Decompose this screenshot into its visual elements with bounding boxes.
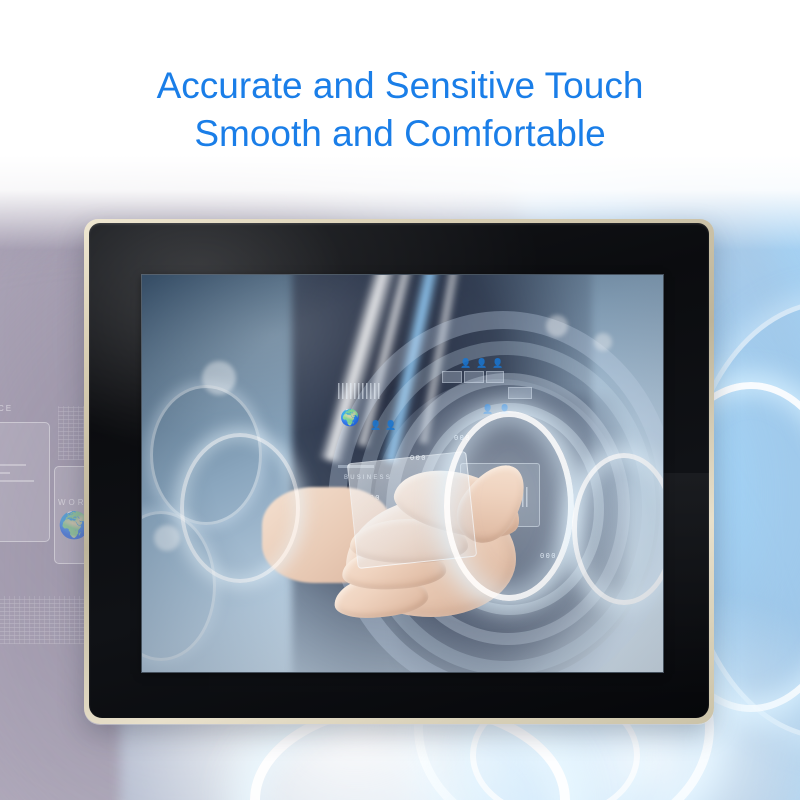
background-panel-row	[0, 480, 34, 482]
screen-vignette	[142, 275, 663, 672]
background-panel-finance	[0, 422, 50, 542]
headline-line-1: Accurate and Sensitive Touch	[0, 62, 800, 110]
monitor-bezel: 🌍 BUSINESS NETWORK SER 000 000 000 000 0…	[89, 223, 709, 718]
headline-line-2: Smooth and Comfortable	[0, 110, 800, 158]
background-panel-row	[0, 464, 26, 466]
background-panel-row	[0, 472, 10, 474]
product-image-canvas: FINANCE WORLD 🌍 Accurate and Sensitive T…	[0, 0, 800, 800]
background-data-grid	[0, 596, 84, 644]
touch-display[interactable]: 🌍 BUSINESS NETWORK SER 000 000 000 000 0…	[142, 275, 663, 672]
industrial-touch-panel-monitor[interactable]: 🌍 BUSINESS NETWORK SER 000 000 000 000 0…	[84, 219, 714, 724]
headline: Accurate and Sensitive Touch Smooth and …	[0, 62, 800, 158]
background-panel-label-finance: FINANCE	[0, 404, 13, 413]
